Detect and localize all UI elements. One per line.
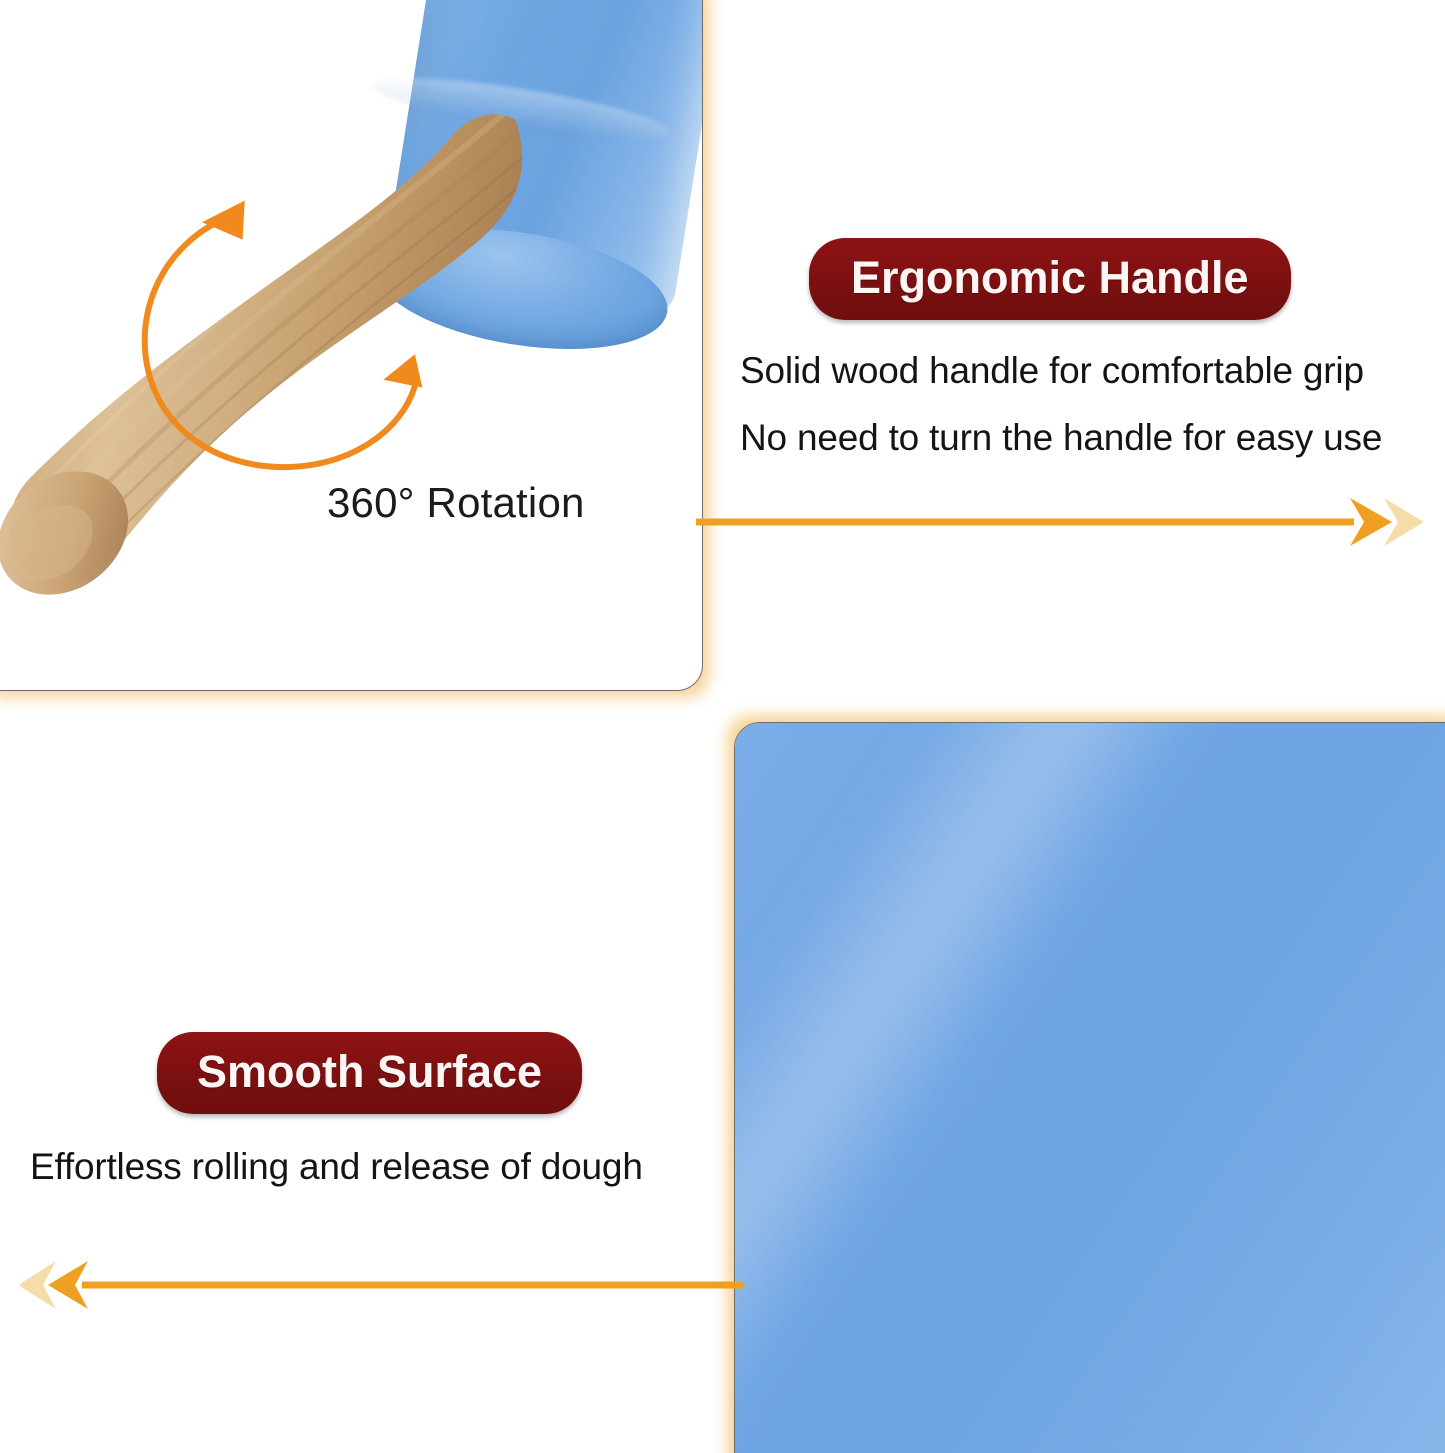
surface-photo-panel — [734, 722, 1445, 1453]
feature-description-line: Solid wood handle for comfortable grip — [740, 350, 1436, 392]
status-badge-ergonomic-handle: Ergonomic Handle — [809, 238, 1291, 320]
double-chevron-arrow-right-icon — [694, 492, 1434, 552]
infographic-canvas: 360° Rotation Ergonomic Handle Solid woo… — [0, 0, 1445, 1453]
rotation-caption: 360° Rotation — [327, 479, 585, 527]
feature-description-line: No need to turn the handle for easy use — [740, 417, 1436, 459]
feature-block-ergonomic-handle: Ergonomic Handle Solid wood handle for c… — [736, 238, 1436, 459]
double-chevron-arrow-left-icon — [20, 1256, 745, 1314]
handle-photo-panel: 360° Rotation — [0, 0, 703, 691]
feature-description-line: Effortless rolling and release of dough — [30, 1146, 720, 1188]
feature-block-smooth-surface: Smooth Surface Effortless rolling and re… — [30, 1032, 720, 1188]
silicone-surface-art — [735, 723, 1445, 1453]
status-badge-smooth-surface: Smooth Surface — [157, 1032, 582, 1114]
